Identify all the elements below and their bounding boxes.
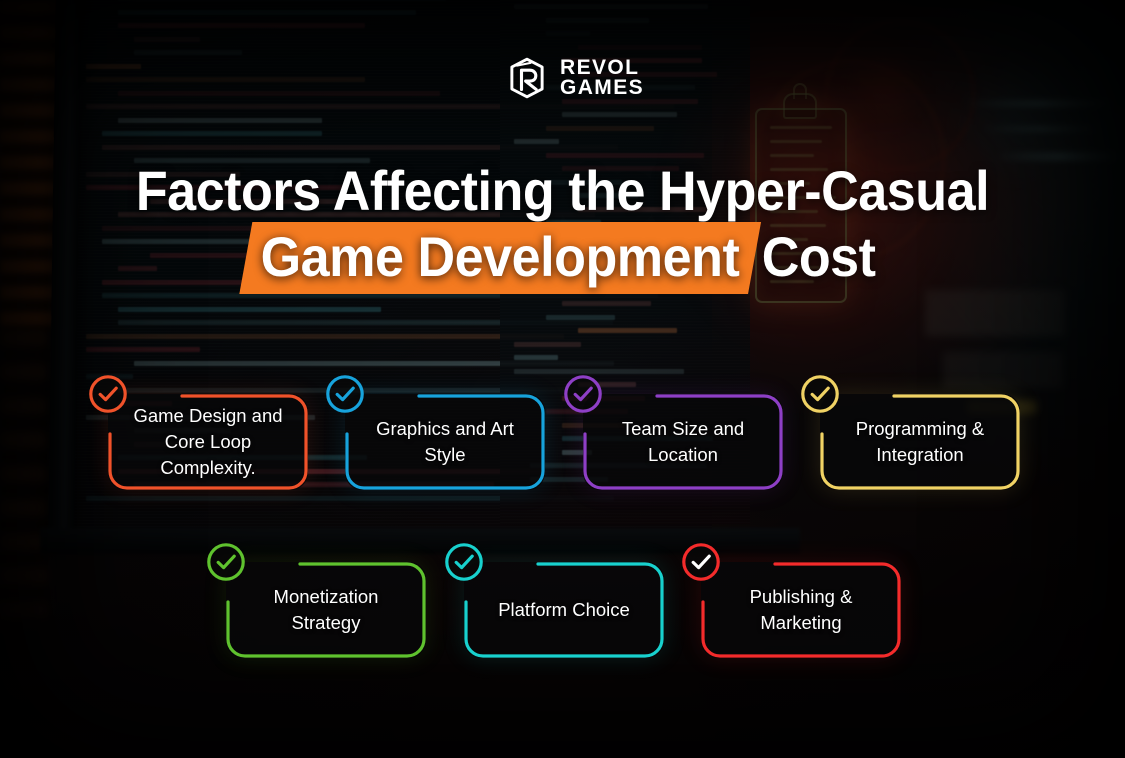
check-circle-icon xyxy=(88,374,128,414)
factor-card-label: Graphics and Art Style xyxy=(345,416,545,468)
headline-line-1: Factors Affecting the Hyper-Casual xyxy=(39,160,1085,222)
factor-card-label: Programming & Integration xyxy=(820,416,1020,468)
check-circle-icon xyxy=(563,374,603,414)
check-circle-icon xyxy=(325,374,365,414)
brand-logo: REVOL GAMES xyxy=(505,56,644,100)
factor-card[interactable]: Publishing & Marketing xyxy=(701,562,901,658)
check-circle-icon xyxy=(206,542,246,582)
check-circle-icon xyxy=(444,542,484,582)
headline-line-2: Game DevelopmentCost xyxy=(39,226,1085,288)
factor-card[interactable]: Monetization Strategy xyxy=(226,562,426,658)
factor-card[interactable]: Team Size and Location xyxy=(583,394,783,490)
revol-r-logo-icon xyxy=(505,56,549,100)
factor-card-label: Team Size and Location xyxy=(583,416,783,468)
factor-card[interactable]: Game Design and Core Loop Complexity. xyxy=(108,394,308,490)
check-circle-icon xyxy=(800,374,840,414)
headline-tail: Cost xyxy=(751,225,876,288)
factor-card[interactable]: Graphics and Art Style xyxy=(345,394,545,490)
factor-card[interactable]: Platform Choice xyxy=(464,562,664,658)
page-title: Factors Affecting the Hyper-Casual Game … xyxy=(0,160,1125,288)
factor-card-label: Platform Choice xyxy=(482,597,646,623)
check-circle-icon xyxy=(681,542,721,582)
factor-card-label: Monetization Strategy xyxy=(226,584,426,636)
headline-highlight: Game Development xyxy=(249,226,750,288)
factor-card[interactable]: Programming & Integration xyxy=(820,394,1020,490)
factor-card-label: Publishing & Marketing xyxy=(701,584,901,636)
brand-name-line2: GAMES xyxy=(560,78,644,98)
factor-card-label: Game Design and Core Loop Complexity. xyxy=(108,403,308,481)
